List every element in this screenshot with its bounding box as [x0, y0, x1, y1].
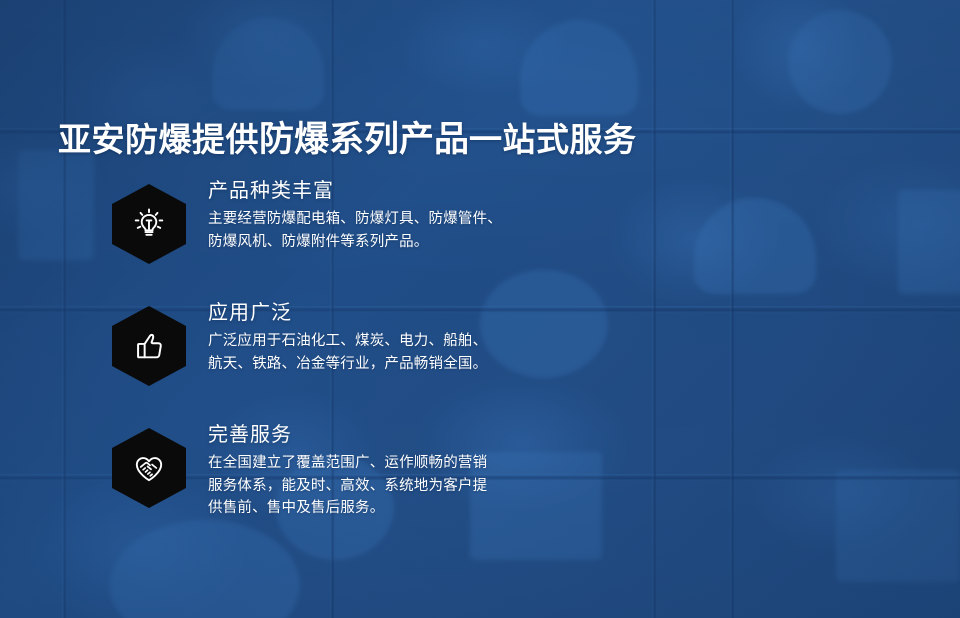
thumbs-up-icon: [130, 327, 168, 365]
feature-item: 应用广泛 广泛应用于石油化工、煤炭、电力、船舶、 航天、铁路、冶金等行业，产品畅…: [112, 300, 582, 392]
headline-tail: 一站式服务: [469, 121, 637, 158]
feature-icon-badge: [112, 306, 186, 386]
feature-description-line: 防爆风机、防爆附件等系列产品。: [208, 231, 582, 254]
feature-title: 应用广泛: [208, 300, 582, 326]
feature-description-line: 供售前、售中及售后服务。: [208, 497, 582, 520]
feature-description-line: 航天、铁路、冶金等行业，产品畅销全国。: [208, 353, 582, 376]
feature-list: 产品种类丰富 主要经营防爆配电箱、防爆灯具、防爆管件、 防爆风机、防爆附件等系列…: [112, 178, 582, 520]
feature-description-line: 在全国建立了覆盖范围广、运作顺畅的营销: [208, 452, 582, 475]
lightbulb-icon: [130, 205, 168, 243]
banner-headline: 亚安防爆提供防爆系列产品一站式服务: [58, 118, 637, 162]
feature-description-line: 广泛应用于石油化工、煤炭、电力、船舶、: [208, 330, 582, 353]
feature-description: 主要经营防爆配电箱、防爆灯具、防爆管件、 防爆风机、防爆附件等系列产品。: [208, 208, 582, 253]
feature-description-line: 主要经营防爆配电箱、防爆灯具、防爆管件、: [208, 208, 582, 231]
headline-lead: 亚安防爆提供: [58, 121, 259, 158]
feature-description: 在全国建立了覆盖范围广、运作顺畅的营销 服务体系，能及时、高效、系统地为客户提 …: [208, 452, 582, 520]
feature-description-line: 服务体系，能及时、高效、系统地为客户提: [208, 475, 582, 498]
feature-item: 完善服务 在全国建立了覆盖范围广、运作顺畅的营销 服务体系，能及时、高效、系统地…: [112, 422, 582, 520]
feature-title: 完善服务: [208, 422, 582, 448]
feature-description: 广泛应用于石油化工、煤炭、电力、船舶、 航天、铁路、冶金等行业，产品畅销全国。: [208, 330, 582, 375]
feature-icon-badge: [112, 428, 186, 508]
banner-content: 亚安防爆提供防爆系列产品一站式服务: [0, 0, 960, 618]
heart-handshake-icon: [130, 449, 168, 487]
feature-title: 产品种类丰富: [208, 178, 582, 204]
feature-icon-badge: [112, 184, 186, 264]
promo-banner: 亚安防爆提供防爆系列产品一站式服务: [0, 0, 960, 618]
headline-emphasis: 防爆系列产品: [259, 120, 469, 159]
feature-item: 产品种类丰富 主要经营防爆配电箱、防爆灯具、防爆管件、 防爆风机、防爆附件等系列…: [112, 178, 582, 270]
